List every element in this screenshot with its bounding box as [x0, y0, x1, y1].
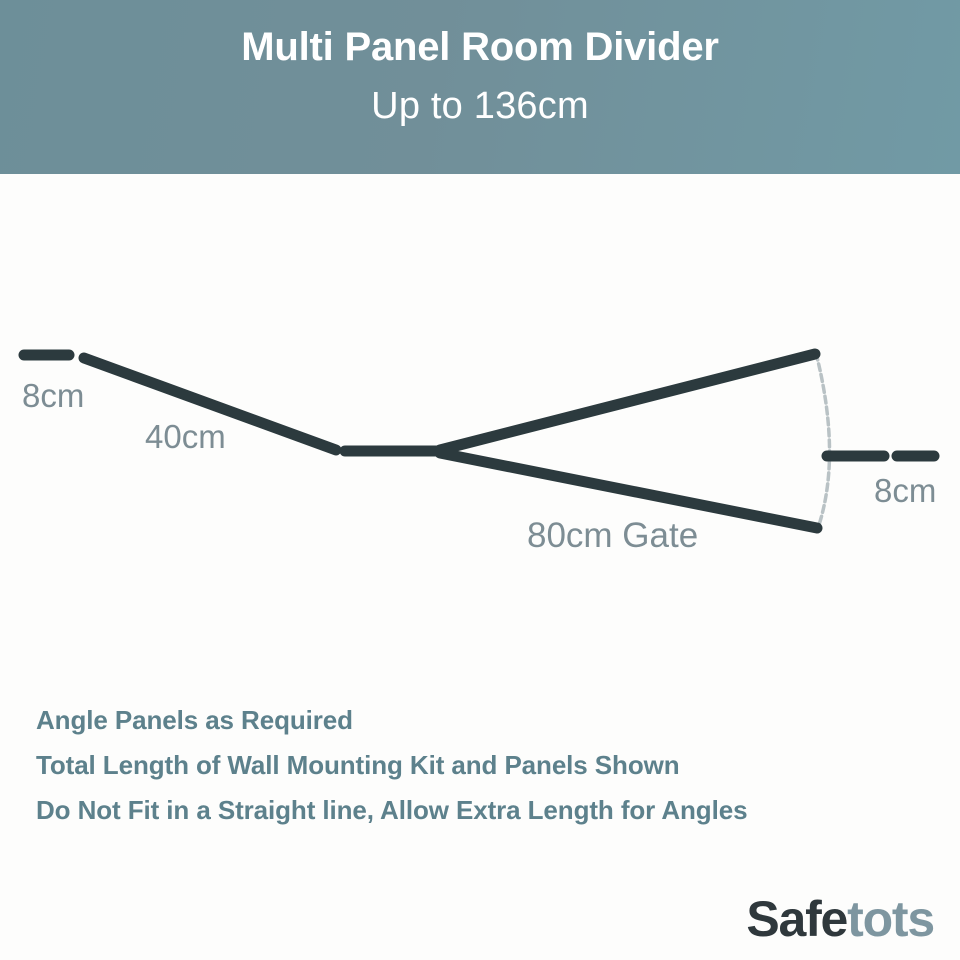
divider-layout-diagram: 8cm 40cm 80cm Gate 8cm — [0, 174, 960, 674]
brand-logo-secondary: tots — [847, 894, 934, 944]
diagram-svg: 8cm 40cm 80cm Gate 8cm — [0, 174, 960, 674]
label-left-mount: 8cm — [22, 377, 84, 414]
note-line: Angle Panels as Required — [36, 698, 936, 743]
page-subtitle: Up to 136cm — [371, 84, 589, 130]
label-gate: 80cm Gate — [527, 516, 698, 555]
gate-swing-arc-icon — [816, 353, 830, 528]
note-line: Do Not Fit in a Straight line, Allow Ext… — [36, 788, 936, 833]
notes-block: Angle Panels as Required Total Length of… — [36, 698, 936, 833]
gate-open-position-bar — [440, 354, 815, 450]
label-right-mount: 8cm — [874, 472, 936, 509]
product-diagram-page: Multi Panel Room Divider Up to 136cm 8cm — [0, 0, 960, 960]
page-title: Multi Panel Room Divider — [241, 24, 719, 70]
brand-logo: Safe tots — [746, 894, 934, 944]
brand-logo-primary: Safe — [746, 894, 847, 944]
label-left-panel: 40cm — [145, 418, 226, 455]
note-line: Total Length of Wall Mounting Kit and Pa… — [36, 743, 936, 788]
header-banner: Multi Panel Room Divider Up to 136cm — [0, 0, 960, 174]
